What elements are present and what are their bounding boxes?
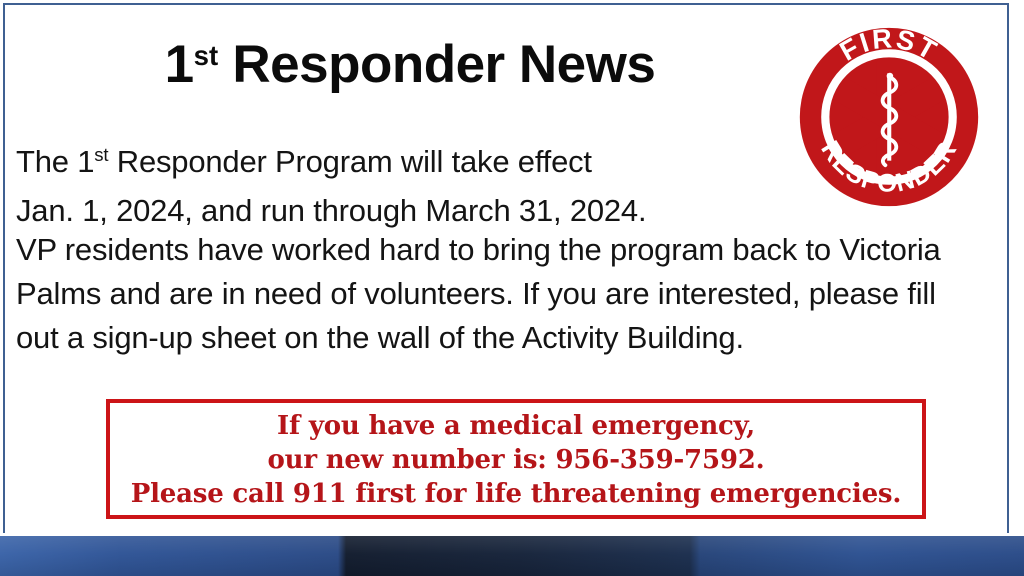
emergency-line-3: Please call 911 first for life threateni… (131, 477, 901, 511)
paragraph-line: The 1st Responder Program will take effe… (16, 130, 796, 186)
line-text-before: Jan. 1, 2024, and run through March 31, … (16, 193, 646, 228)
title-suffix: Responder News (218, 35, 655, 94)
emergency-line-2: our new number is: 956-359-7592. (268, 443, 765, 477)
paragraph-volunteer-call: VP residents have worked hard to bring t… (16, 228, 982, 360)
line-superscript: st (94, 144, 108, 165)
first-responder-badge-icon: FIRST RESPONDER (798, 26, 980, 208)
emergency-callout-box: If you have a medical emergency, our new… (106, 399, 926, 519)
page-title: 1st Responder News (40, 26, 780, 95)
paragraph-text: VP residents have worked hard to bring t… (16, 228, 982, 360)
emergency-line-1: If you have a medical emergency, (277, 409, 755, 443)
line-text-before: The 1 (16, 144, 94, 179)
title-superscript: st (194, 40, 219, 71)
footer-bar-sheen (0, 536, 1024, 576)
paragraph-program-dates: The 1st Responder Program will take effe… (16, 130, 796, 235)
footer-decorative-bar (0, 536, 1024, 576)
title-prefix: 1 (165, 35, 194, 94)
slide-canvas: 1st Responder News (0, 0, 1024, 576)
line-text-after: Responder Program will take effect (108, 144, 592, 179)
slide-right-margin (1012, 0, 1024, 536)
